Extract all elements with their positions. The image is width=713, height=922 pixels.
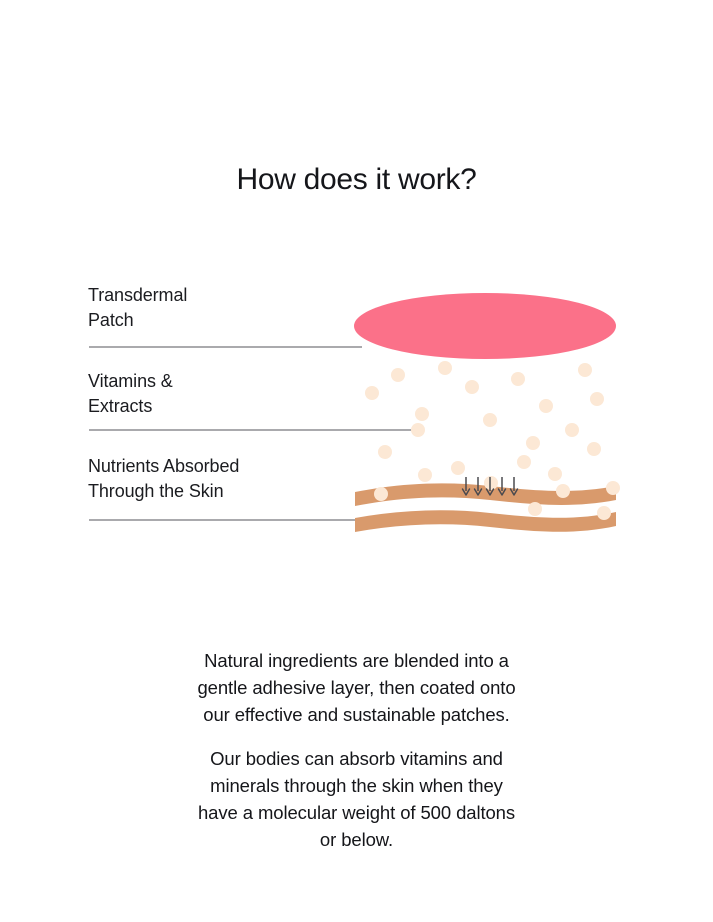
nutrient-particle <box>556 484 570 498</box>
nutrient-particle <box>438 361 452 375</box>
nutrient-particle <box>526 436 540 450</box>
body-paragraph-absorption: Our bodies can absorb vitamins and miner… <box>0 745 713 853</box>
absorption-arrow <box>475 477 482 495</box>
body-paragraph-ingredients: Natural ingredients are blended into a g… <box>0 647 713 728</box>
nutrient-particle <box>483 413 497 427</box>
callout-label-nutrients-absorbed: Nutrients Absorbed Through the Skin <box>88 454 239 504</box>
absorption-arrow <box>511 477 518 495</box>
nutrient-particle <box>587 442 601 456</box>
nutrient-particle <box>374 487 388 501</box>
nutrient-particle <box>465 380 479 394</box>
nutrient-particle <box>578 363 592 377</box>
callout-label-transdermal-patch: Transdermal Patch <box>88 283 187 333</box>
nutrient-particles <box>365 361 604 482</box>
absorption-arrow <box>463 477 470 495</box>
nutrient-particle <box>597 506 611 520</box>
absorption-arrow <box>487 477 494 495</box>
nutrient-particle <box>539 399 553 413</box>
nutrient-particle <box>511 372 525 386</box>
transdermal-patch-ellipse <box>354 293 616 359</box>
page-title: How does it work? <box>0 163 713 197</box>
nutrient-particle <box>590 392 604 406</box>
nutrient-particle <box>411 423 425 437</box>
nutrient-particle <box>378 445 392 459</box>
skin-band-upper <box>355 483 616 506</box>
nutrient-particle <box>451 461 465 475</box>
nutrient-particle <box>606 481 620 495</box>
nutrient-particle <box>418 468 432 482</box>
nutrient-particle <box>565 423 579 437</box>
callout-label-vitamins-extracts: Vitamins & Extracts <box>88 369 173 419</box>
infographic-page: How does it work? Transdermal Patch Vita… <box>0 0 713 922</box>
skin-layer-bands <box>355 483 616 532</box>
nutrient-particles-foreground <box>374 476 620 520</box>
nutrient-particle <box>415 407 429 421</box>
absorption-arrow <box>499 477 506 495</box>
nutrient-particle <box>391 368 405 382</box>
nutrient-particle <box>528 502 542 516</box>
skin-band-lower <box>355 510 616 532</box>
nutrient-particle <box>517 455 531 469</box>
nutrient-particle <box>548 467 562 481</box>
absorption-arrows <box>463 477 518 495</box>
nutrient-particle <box>484 476 498 490</box>
nutrient-particle <box>365 386 379 400</box>
